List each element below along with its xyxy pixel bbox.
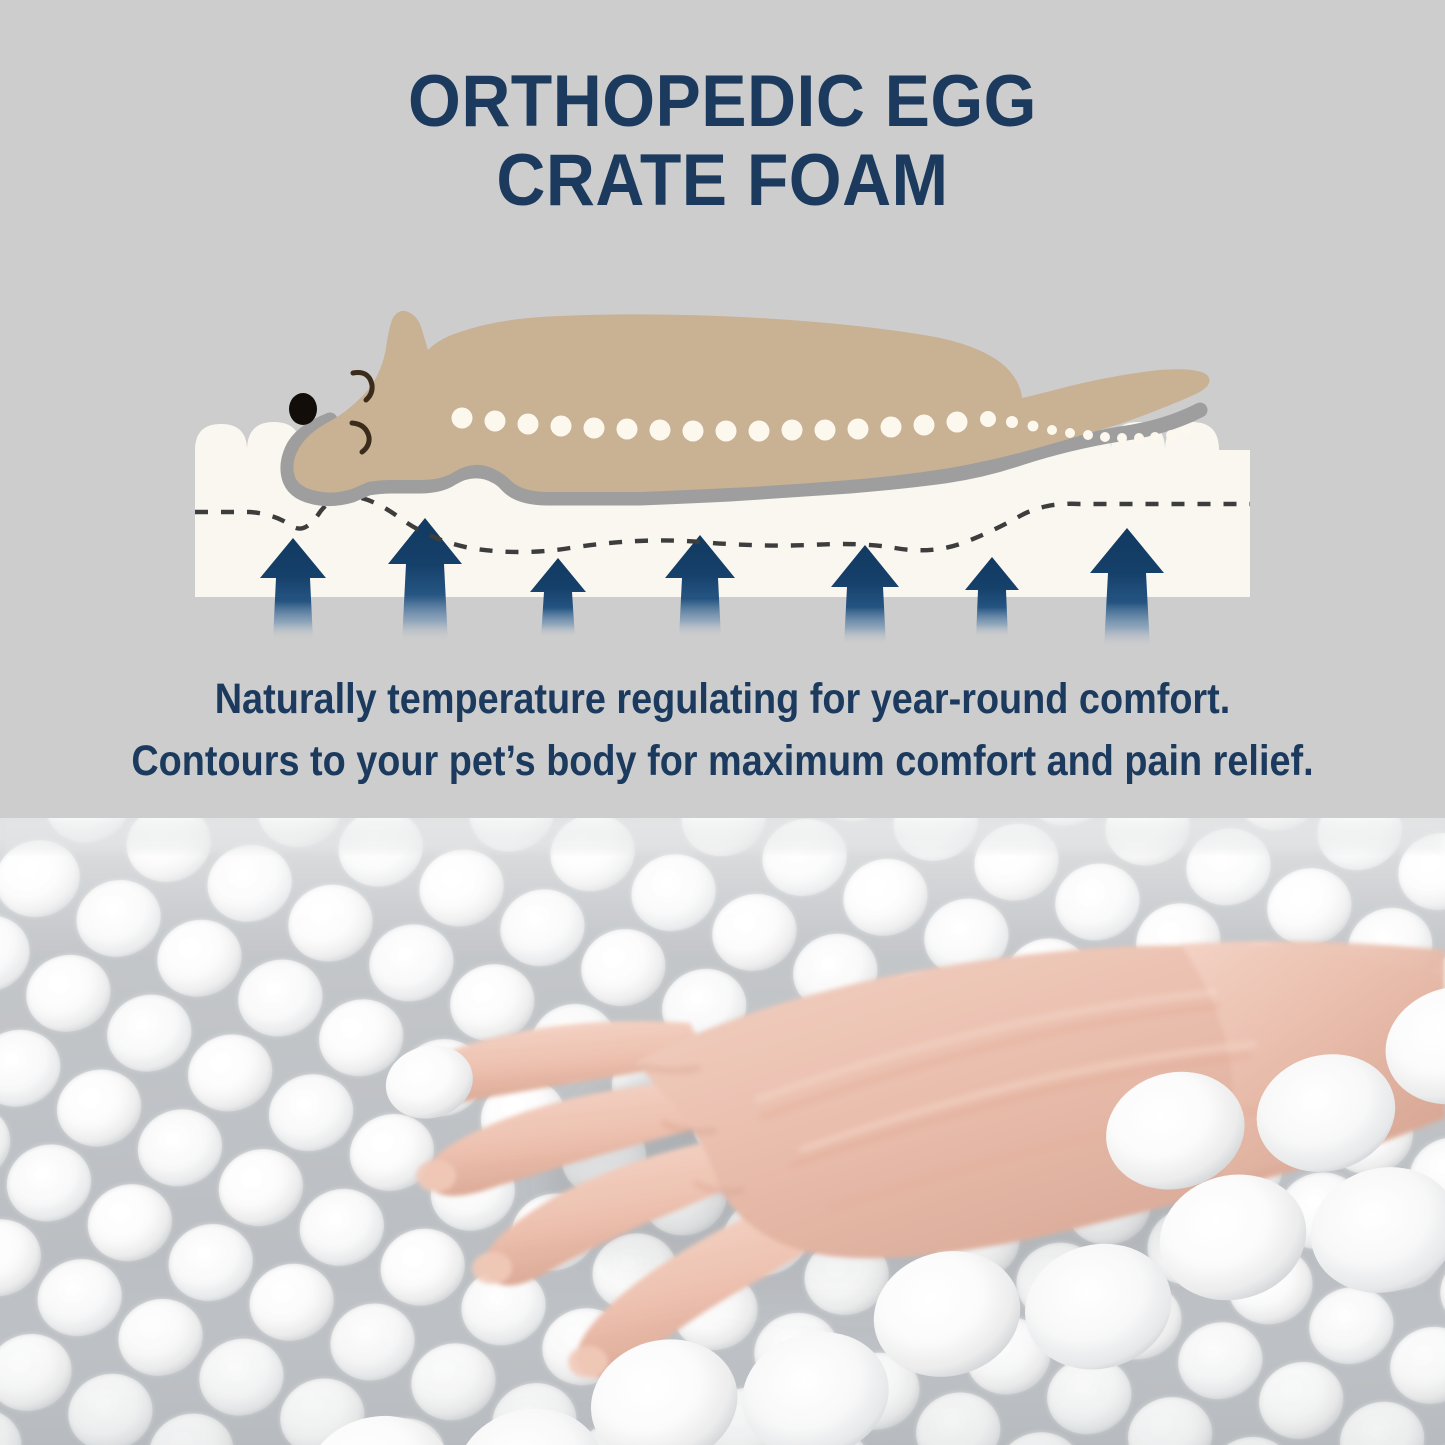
caption-line-1: Naturally temperature regulating for yea…	[87, 668, 1359, 730]
feature-captions: Naturally temperature regulating for yea…	[87, 668, 1359, 792]
dog-nose	[289, 393, 317, 425]
page-title: ORTHOPEDIC EGG CRATE FOAM	[51, 62, 1395, 220]
headline-line-1: ORTHOPEDIC EGG	[51, 62, 1395, 141]
dog-on-foam-illustration	[0, 290, 1445, 670]
headline-line-2: CRATE FOAM	[51, 141, 1395, 220]
caption-line-2: Contours to your pet’s body for maximum …	[87, 730, 1359, 792]
infographic-panel: ORTHOPEDIC EGG CRATE FOAM	[0, 0, 1445, 818]
foam-photo-panel	[0, 818, 1445, 1445]
egg-crate-foam-photo	[0, 818, 1445, 1445]
product-infographic: ORTHOPEDIC EGG CRATE FOAM	[0, 0, 1445, 1445]
